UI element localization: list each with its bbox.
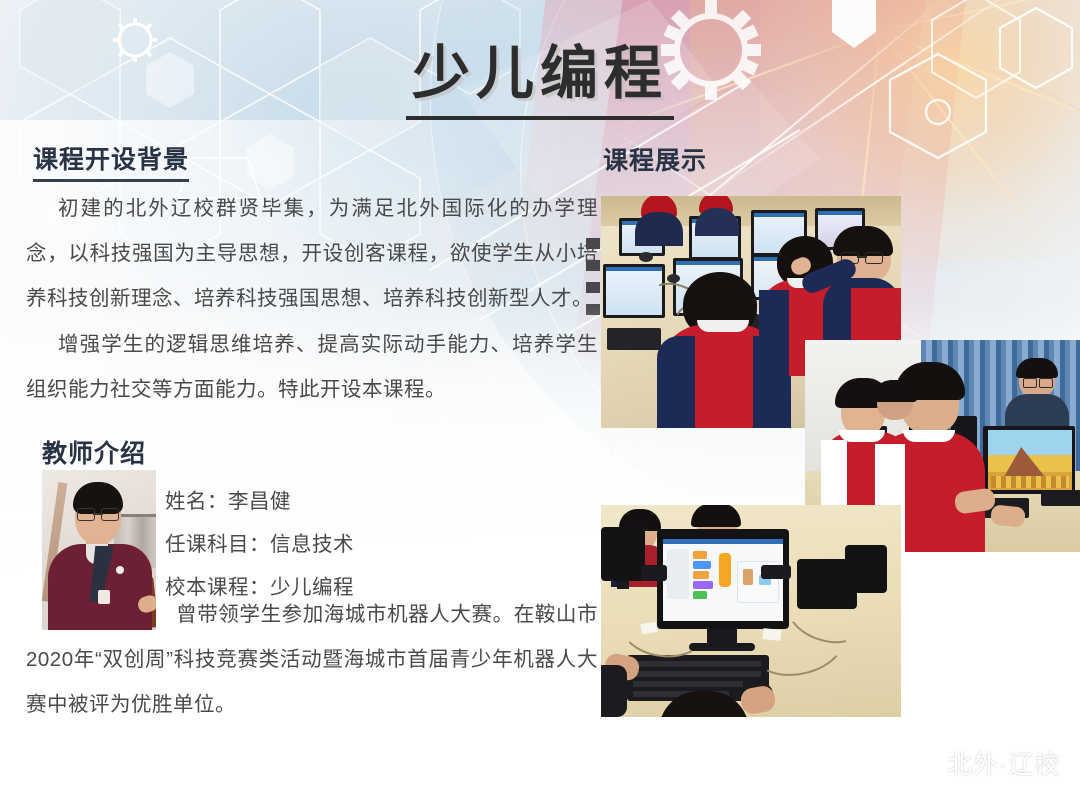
wechat-logo-icon — [905, 750, 939, 776]
classroom-photo-3 — [601, 505, 901, 717]
background-paragraph-1: 初建的北外辽校群贤毕集，为满足北外国际化的办学理念，以科技强国为主导思想，开设创… — [26, 186, 598, 321]
background-paragraph-2: 增强学生的逻辑思维培养、提高实际动手能力、培养学生组织能力社交等方面能力。特此开… — [26, 322, 598, 412]
watermark-label: 北外·辽校 — [947, 745, 1060, 781]
page-title: 少儿编程 — [0, 26, 1080, 120]
watermark: 北外·辽校 — [905, 745, 1060, 781]
teacher-name-line: 姓名：李昌健 — [165, 484, 291, 514]
slide-canvas: 少儿编程 课程开设背景 初建的北外辽校群贤毕集，为满足北外国际化的办学理念，以科… — [0, 0, 1080, 810]
teacher-bio-text: 曾带领学生参加海城市机器人大赛。在鞍山市2020年“双创周”科技竞赛类活动暨海城… — [26, 603, 598, 716]
page-title-text: 少儿编程 — [406, 26, 674, 120]
section-heading-background: 课程开设背景 — [33, 140, 189, 182]
teacher-bio-paragraph: 曾带领学生参加海城市机器人大赛。在鞍山市2020年“双创周”科技竞赛类活动暨海城… — [26, 592, 598, 727]
section-heading-showcase: 课程展示 — [603, 141, 707, 177]
teacher-subject-line: 任课科目：信息技术 — [165, 527, 354, 557]
